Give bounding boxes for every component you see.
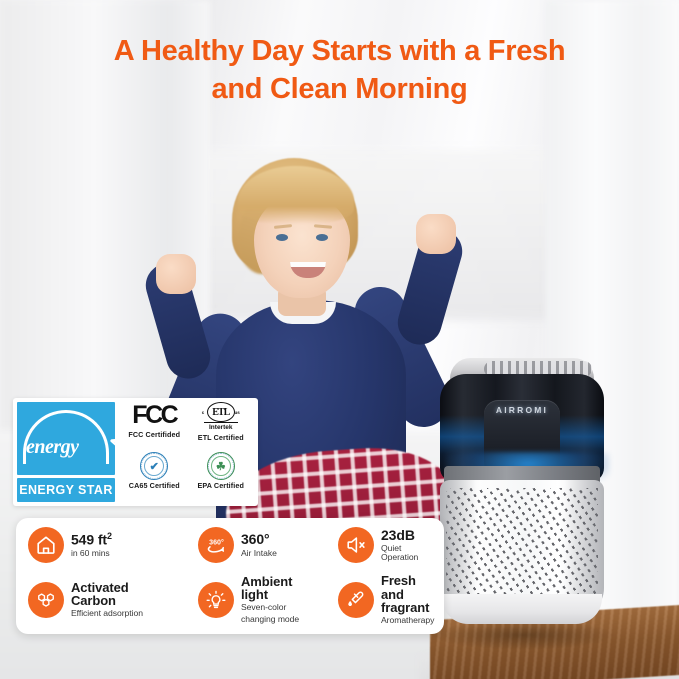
feature-title-ambient: Ambient <box>241 575 299 588</box>
feature-title-noise: 23dB <box>381 528 438 543</box>
speaker-mute-icon <box>338 527 374 563</box>
ca65-seal-icon: ✔ <box>140 452 168 480</box>
headline-line-1: A Healthy Day Starts with a Fresh <box>114 35 566 67</box>
cert-caption-epa: EPA Certified <box>198 481 244 490</box>
lightbulb-icon <box>198 582 234 618</box>
energy-star-label-bar: ENERGY STAR <box>17 478 115 502</box>
cert-item-epa: ☘ EPA Certified <box>188 452 255 502</box>
feature-aromatherapy: Fresh and fragrant Aromatherapy <box>338 574 438 625</box>
energy-star-script-text: energy <box>26 436 79 459</box>
feature-coverage-area: 549 ft2 in 60 mins <box>28 527 198 563</box>
feature-title-carbon: Activated <box>71 581 143 594</box>
etl-c-mark: c <box>202 410 205 415</box>
feature-text-ambient: Ambient light Seven-color changing mode <box>241 575 299 625</box>
epa-seal-icon: ☘ <box>207 452 235 480</box>
feature-sub-air-intake: Air Intake <box>241 549 277 558</box>
feature-air-intake: 360° 360° Air Intake <box>198 527 338 563</box>
feature-ambient-light: Ambient light Seven-color changing mode <box>198 574 338 625</box>
feature-title-coverage: 549 ft2 <box>71 532 112 547</box>
energy-star-label: ENERGY STAR <box>19 483 113 497</box>
rotation-360-icon: 360° <box>198 527 234 563</box>
feature-text-air-intake: 360° Air Intake <box>241 532 277 557</box>
energy-star-badge: energy ENERGY STAR <box>13 398 119 506</box>
etl-us-mark: us <box>234 410 239 415</box>
feature-sub-ambient: Seven-color <box>241 603 299 613</box>
feature-title-air-intake: 360° <box>241 532 277 547</box>
house-icon <box>28 527 64 563</box>
feature-sub-carbon: Efficient adsorption <box>71 609 143 618</box>
etl-mark-icon: c us ETL Intertek <box>201 402 241 432</box>
child-left-fist <box>156 254 196 294</box>
purifier-base <box>442 594 602 624</box>
epa-seal-ring <box>208 453 234 479</box>
aroma-dropper-icon <box>338 582 374 618</box>
feature-title2-ambient: light <box>241 588 299 601</box>
feature-sub-coverage: in 60 mins <box>71 549 112 558</box>
honeycomb-carbon-icon <box>28 582 64 618</box>
feature-activated-carbon: Activated Carbon Efficient adsorption <box>28 574 198 625</box>
page-title: A Healthy Day Starts with a Fresh and Cl… <box>0 32 679 109</box>
cert-caption-etl: ETL Certified <box>198 433 244 442</box>
purifier-shadow <box>430 620 616 650</box>
etl-intertek-text: Intertek <box>204 422 238 431</box>
energy-star-logo-area: energy <box>17 402 115 475</box>
air-purifier-product: AIRROMI <box>434 358 610 646</box>
headline-line-2: and Clean Morning <box>40 70 639 108</box>
feature-sub-noise: Quiet Operation <box>381 544 438 562</box>
cert-caption-fcc: FCC Certifided <box>128 430 180 439</box>
feature-text-noise: 23dB Quiet Operation <box>381 528 438 562</box>
certification-panel: energy ENERGY STAR FCC FCC Certifided c <box>13 398 258 506</box>
child-eye-left <box>276 234 288 241</box>
feature-sub2-ambient: changing mode <box>241 615 299 625</box>
cert-item-ca65: ✔ CA65 Certified <box>121 452 188 502</box>
fcc-mark-icon: FCC <box>132 402 176 429</box>
cert-item-etl: c us ETL Intertek ETL Certified <box>188 402 255 452</box>
cert-item-fcc: FCC FCC Certifided <box>121 402 188 452</box>
feature-text-carbon: Activated Carbon Efficient adsorption <box>71 581 143 618</box>
etl-oval-text: ETL <box>207 402 235 422</box>
feature-row-1: 549 ft2 in 60 mins 360° 360° Air Intake <box>28 527 438 563</box>
feature-title-aroma: Fresh and <box>381 574 438 601</box>
svg-text:360°: 360° <box>209 538 224 546</box>
product-marketing-image: AIRROMI energy ENERGY STAR <box>0 0 679 679</box>
ca65-seal-ring <box>141 453 167 479</box>
purifier-brand-logo: AIRROMI <box>440 405 604 415</box>
feature-title2-aroma: fragrant <box>381 601 438 614</box>
child-eye-right <box>316 234 328 241</box>
feature-text-aroma: Fresh and fragrant Aromatherapy <box>381 574 438 625</box>
feature-highlights-panel: 549 ft2 in 60 mins 360° 360° Air Intake <box>16 518 444 634</box>
feature-title2-carbon: Carbon <box>71 594 143 607</box>
feature-noise-level: 23dB Quiet Operation <box>338 527 438 563</box>
child-right-fist <box>416 214 456 254</box>
certification-marks-grid: FCC FCC Certifided c us ETL Intertek ETL… <box>119 398 258 506</box>
feature-sub-aroma: Aromatherapy <box>381 616 438 625</box>
cert-caption-ca65: CA65 Certified <box>129 481 180 490</box>
feature-text-coverage: 549 ft2 in 60 mins <box>71 532 112 558</box>
feature-row-2: Activated Carbon Efficient adsorption Am… <box>28 574 438 625</box>
